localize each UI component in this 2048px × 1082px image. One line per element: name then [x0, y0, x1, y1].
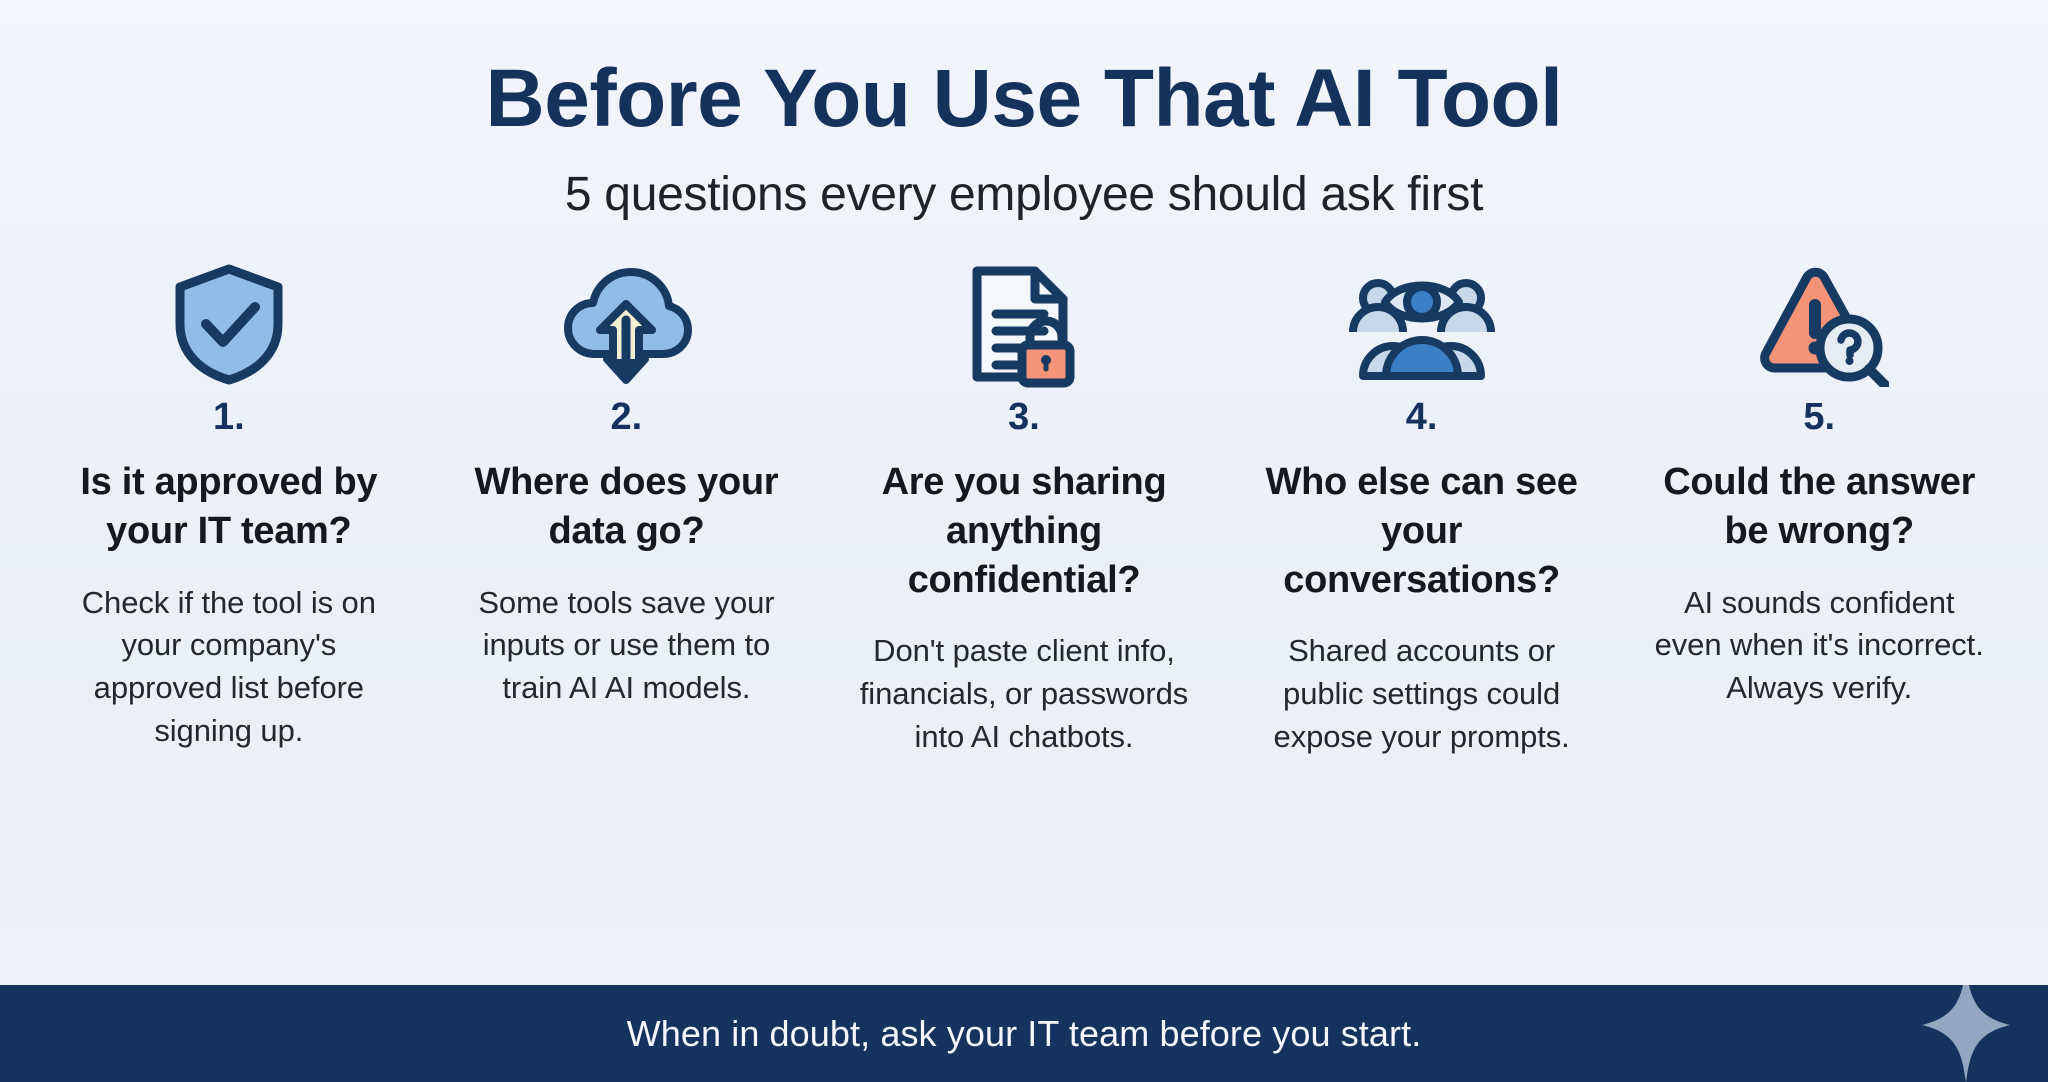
sparkle-icon: [1922, 985, 2010, 1082]
question-column-3: 3. Are you sharing anything confidential…: [825, 264, 1223, 758]
question-column-4: 4. Who else can see your conversations? …: [1223, 264, 1621, 758]
question-number: 2.: [611, 398, 643, 436]
question-body: Check if the tool is on your company's a…: [64, 582, 394, 753]
question-column-2: 2. Where does your data go? Some tools s…: [428, 264, 826, 710]
question-number: 1.: [213, 398, 245, 436]
question-number: 5.: [1803, 398, 1835, 436]
page-title: Before You Use That AI Tool: [0, 58, 2048, 140]
question-column-1: 1. Is it approved by your IT team? Check…: [30, 264, 428, 752]
cloud-data-transfer-icon: [559, 264, 693, 384]
question-body: Some tools save your inputs or use them …: [461, 582, 791, 710]
question-columns: 1. Is it approved by your IT team? Check…: [0, 220, 2048, 985]
question-number: 4.: [1406, 398, 1438, 436]
poster-header: Before You Use That AI Tool 5 questions …: [0, 0, 2048, 220]
shield-check-icon: [170, 264, 288, 384]
question-title: Could the answer be wrong?: [1654, 458, 1984, 555]
infographic-poster: Before You Use That AI Tool 5 questions …: [0, 0, 2048, 1082]
question-body: AI sounds confident even when it's incor…: [1654, 582, 1984, 710]
people-eye-icon: [1347, 264, 1497, 384]
question-title: Are you sharing anything confidential?: [859, 458, 1189, 604]
question-column-5: 5. Could the answer be wrong? AI sounds …: [1620, 264, 2018, 710]
question-body: Shared accounts or public settings could…: [1257, 630, 1587, 758]
footer-bar: When in doubt, ask your IT team before y…: [0, 985, 2048, 1082]
question-number: 3.: [1008, 398, 1040, 436]
page-subtitle: 5 questions every employee should ask fi…: [0, 170, 2048, 220]
warning-question-icon: [1749, 264, 1889, 384]
question-title: Is it approved by your IT team?: [64, 458, 394, 555]
question-title: Who else can see your conversations?: [1257, 458, 1587, 604]
question-body: Don't paste client info, financials, or …: [859, 630, 1189, 758]
question-title: Where does your data go?: [461, 458, 791, 555]
footer-message: When in doubt, ask your IT team before y…: [627, 1016, 1422, 1052]
document-lock-icon: [963, 264, 1085, 384]
